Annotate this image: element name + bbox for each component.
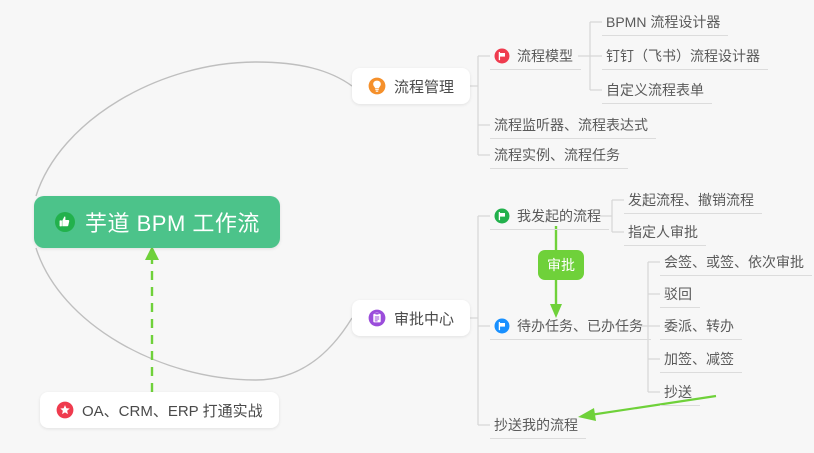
node-my-started-processes[interactable]: 我发起的流程: [490, 203, 609, 230]
node-label: 我发起的流程: [517, 206, 601, 226]
node-label: 流程模型: [517, 46, 573, 66]
callout-label: OA、CRM、ERP 打通实战: [82, 400, 263, 421]
node-process-model[interactable]: 流程模型: [490, 43, 581, 70]
branch-label: 审批中心: [394, 308, 454, 329]
flag-icon: [494, 208, 510, 224]
node-cc-to-me-processes[interactable]: 抄送我的流程: [490, 412, 586, 439]
approval-badge: 审批: [538, 250, 584, 280]
callout-node-integration[interactable]: OA、CRM、ERP 打通实战: [40, 392, 279, 428]
clipboard-icon: [368, 309, 386, 327]
thumbs-up-icon: [54, 211, 76, 233]
node-carbon-copy[interactable]: 抄送: [660, 379, 700, 406]
lightbulb-icon: [368, 77, 386, 95]
node-label: 流程监听器、流程表达式: [494, 115, 648, 135]
node-label: 抄送: [664, 382, 692, 402]
node-listener-expression[interactable]: 流程监听器、流程表达式: [490, 112, 656, 139]
node-label: 会签、或签、依次审批: [664, 252, 804, 272]
node-label: 待办任务、已办任务: [517, 316, 643, 336]
node-label: 指定人审批: [628, 222, 698, 242]
node-todo-done-tasks[interactable]: 待办任务、已办任务: [490, 313, 651, 340]
node-label: 自定义流程表单: [606, 80, 704, 100]
node-label: 抄送我的流程: [494, 415, 578, 435]
node-label: 驳回: [664, 284, 692, 304]
node-assignee-approval[interactable]: 指定人审批: [624, 219, 706, 246]
integration-arrow: [145, 246, 159, 392]
node-label: BPMN 流程设计器: [606, 12, 720, 32]
mindmap-canvas: 芋道 BPM 工作流 流程管理 流程模型 BPMN 流程设计器 钉钉（飞书）流程: [0, 0, 814, 453]
node-label: 加签、减签: [664, 349, 734, 369]
flag-icon: [494, 318, 510, 334]
root-node[interactable]: 芋道 BPM 工作流: [34, 196, 280, 248]
node-label: 发起流程、撤销流程: [628, 190, 754, 210]
node-custom-process-form[interactable]: 自定义流程表单: [602, 77, 712, 104]
node-label: 钉钉（飞书）流程设计器: [606, 46, 760, 66]
node-label: 流程实例、流程任务: [494, 145, 620, 165]
node-bpmn-designer[interactable]: BPMN 流程设计器: [602, 9, 728, 36]
node-add-remove-sign[interactable]: 加签、减签: [660, 346, 742, 373]
node-reject[interactable]: 驳回: [660, 281, 700, 308]
node-delegate-transfer[interactable]: 委派、转办: [660, 313, 742, 340]
branch-label: 流程管理: [394, 76, 454, 97]
flag-icon: [494, 48, 510, 64]
root-label: 芋道 BPM 工作流: [85, 206, 260, 238]
node-countersign[interactable]: 会签、或签、依次审批: [660, 249, 812, 276]
approval-badge-label: 审批: [547, 255, 575, 275]
branch-node-approval-center[interactable]: 审批中心: [352, 300, 470, 336]
star-icon: [56, 401, 74, 419]
node-instance-task[interactable]: 流程实例、流程任务: [490, 142, 628, 169]
branch-node-process-management[interactable]: 流程管理: [352, 68, 470, 104]
node-dingtalk-feishu-designer[interactable]: 钉钉（飞书）流程设计器: [602, 43, 768, 70]
node-start-cancel-process[interactable]: 发起流程、撤销流程: [624, 187, 762, 214]
node-label: 委派、转办: [664, 316, 734, 336]
